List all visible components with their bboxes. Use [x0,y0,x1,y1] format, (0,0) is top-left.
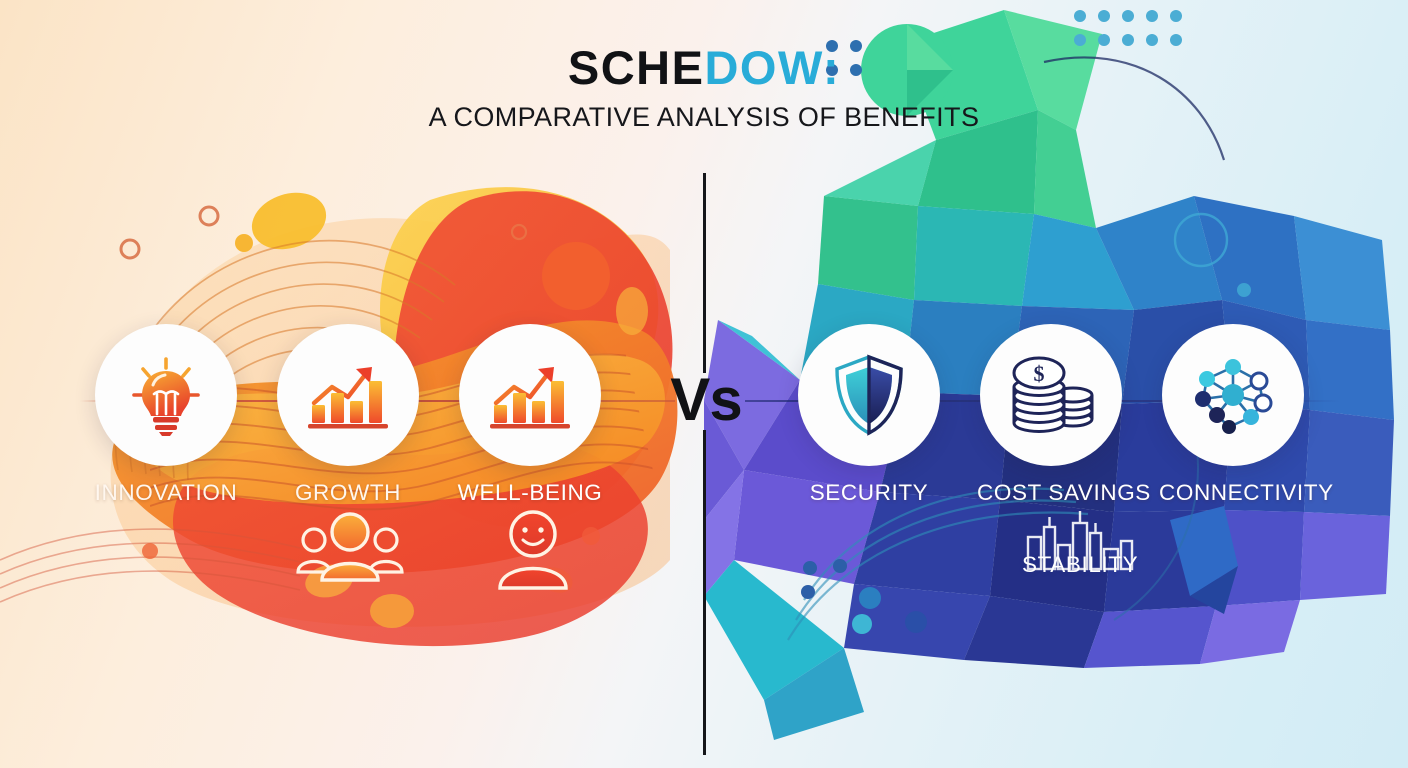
svg-text:$: $ [1034,361,1045,386]
benefit-node-cost-savings[interactable]: $ COST SAVINGS [977,324,1125,506]
coin-stack-icon: $ [1007,353,1095,437]
people-group-icon [294,510,406,586]
network-nodes-icon [1189,353,1277,437]
benefit-node-innovation[interactable]: INNOVATION [92,324,240,506]
innovation-bubble[interactable] [95,324,237,466]
growth-label: GROWTH [274,480,422,506]
bar-chart-arrow-icon [488,357,572,433]
security-bubble[interactable] [798,324,940,466]
lightbulb-icon [126,353,206,437]
cost-savings-label: COST SAVINGS [977,480,1125,506]
bar-chart-arrow-icon [306,357,390,433]
benefit-node-growth[interactable]: GROWTH [274,324,422,506]
header-block: SCHEDOW: A COMPARATIVE ANALYSIS OF BENEF… [0,44,1408,131]
versus-label: Vs [660,364,752,436]
smiling-person-icon [490,508,576,592]
stability-label: STABILITY [1022,552,1138,578]
center-divider-bottom [703,430,706,755]
cost-savings-bubble[interactable]: $ [980,324,1122,466]
wellbeing-bubble[interactable] [459,324,601,466]
shield-icon [831,353,907,437]
page-title: SCHEDOW: [0,44,1408,91]
title-primary: SCHE [568,41,705,94]
innovation-label: INNOVATION [92,480,240,506]
connectivity-label: CONNECTIVITY [1159,480,1307,506]
security-label: SECURITY [795,480,943,506]
center-divider-top [703,173,706,373]
title-accent: DOW: [704,41,840,94]
infographic-canvas: STABILITY Vs SCHEDOW: A COMPARATIVE ANAL… [0,0,1408,768]
growth-bubble[interactable] [277,324,419,466]
connectivity-bubble[interactable] [1162,324,1304,466]
benefit-node-connectivity[interactable]: CONNECTIVITY [1159,324,1307,506]
page-subtitle: A COMPARATIVE ANALYSIS OF BENEFITS [0,104,1408,131]
wellbeing-label: WELL-BEING [456,480,604,506]
benefit-node-wellbeing[interactable]: WELL-BEING [456,324,604,506]
benefit-node-security[interactable]: SECURITY [795,324,943,506]
